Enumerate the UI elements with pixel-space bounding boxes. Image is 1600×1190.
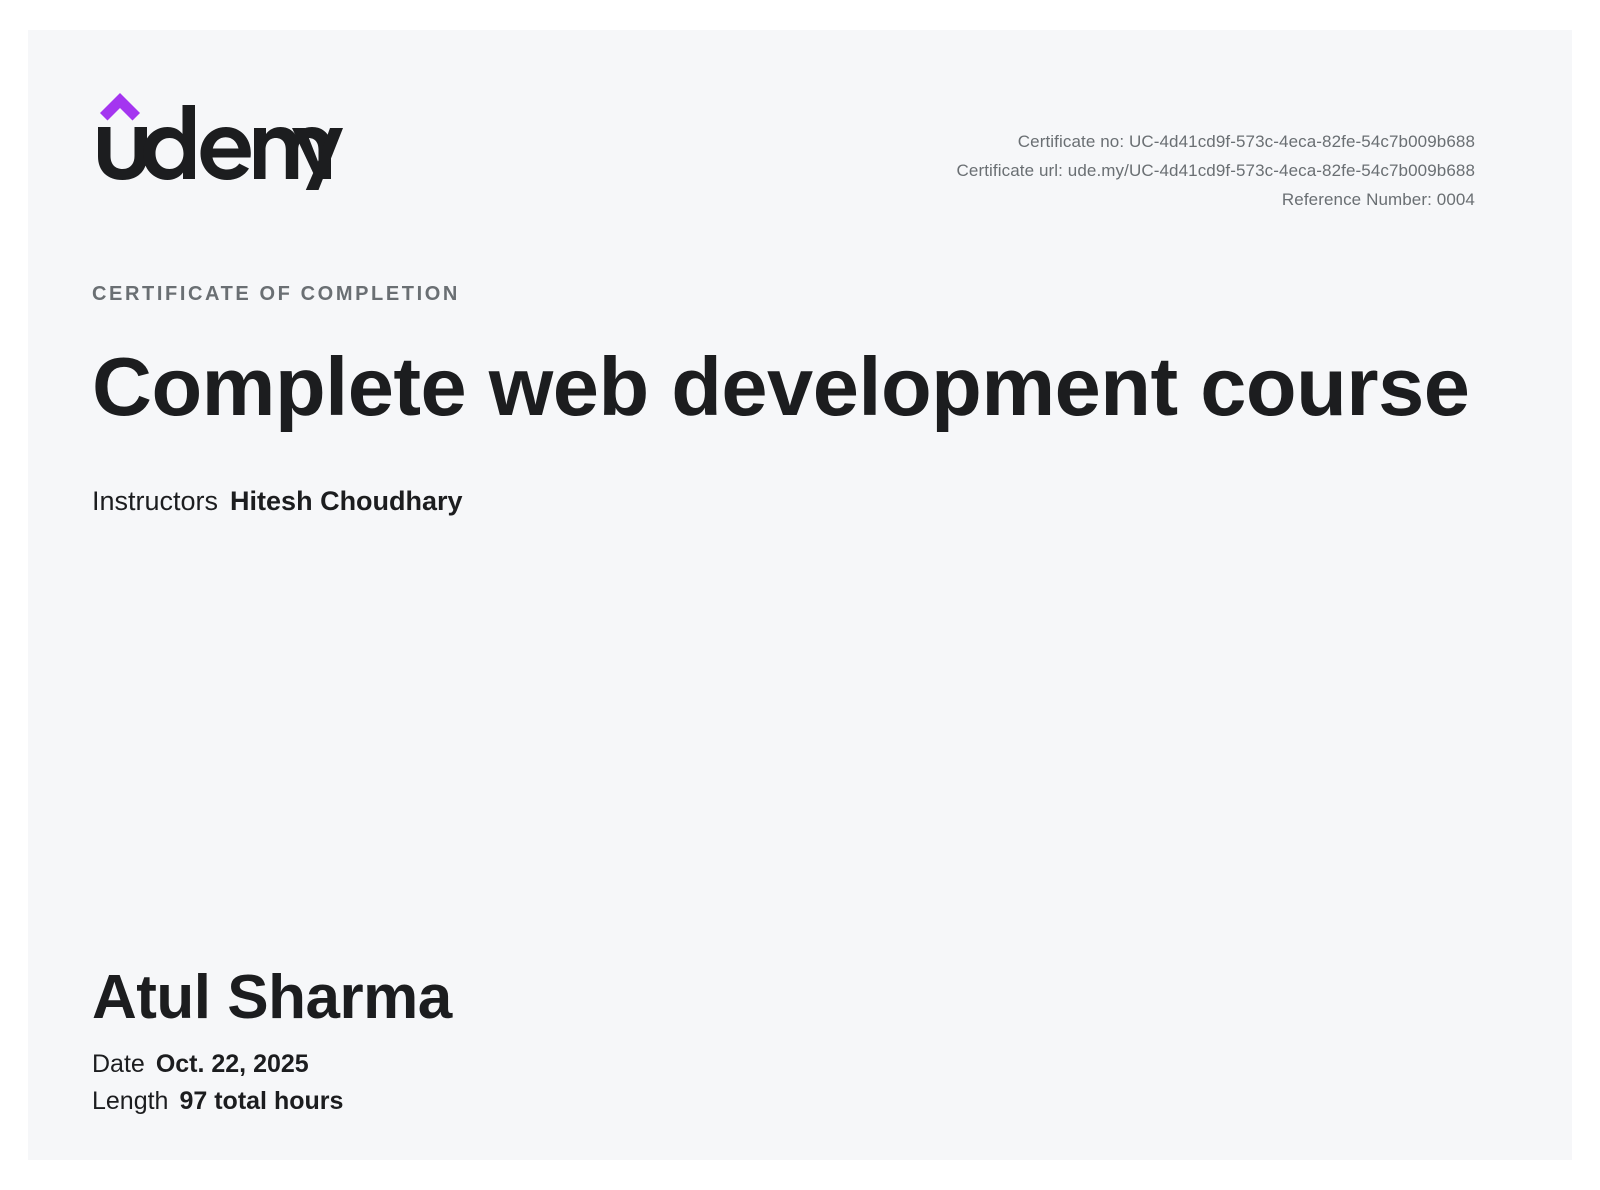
certificate-number: Certificate no: UC-4d41cd9f-573c-4eca-82… [957,127,1475,156]
certificate-page: Certificate no: UC-4d41cd9f-573c-4eca-82… [0,0,1600,1190]
instructors-label: Instructors [92,486,218,516]
reference-number: Reference Number: 0004 [957,185,1475,214]
certificate-body: CERTIFICATE OF COMPLETION Complete web d… [92,280,1508,518]
length-row: Length97 total hours [92,1083,1508,1120]
instructors-row: InstructorsHitesh Choudhary [92,484,1508,518]
instructors-value: Hitesh Choudhary [230,486,463,516]
udemy-logo [92,80,352,190]
recipient-name: Atul Sharma [92,962,1508,1034]
date-row: DateOct. 22, 2025 [92,1046,1508,1083]
certificate-eyebrow: CERTIFICATE OF COMPLETION [92,280,1508,308]
certificate-metadata: Certificate no: UC-4d41cd9f-573c-4eca-82… [957,127,1475,214]
certificate-footer: Atul Sharma DateOct. 22, 2025 Length97 t… [92,962,1508,1120]
certificate-panel: Certificate no: UC-4d41cd9f-573c-4eca-82… [28,30,1572,1160]
date-value: Oct. 22, 2025 [156,1050,309,1078]
length-label: Length [92,1087,168,1115]
certificate-header: Certificate no: UC-4d41cd9f-573c-4eca-82… [92,80,1475,190]
course-title: Complete web development course [92,332,1482,442]
date-label: Date [92,1050,145,1078]
length-value: 97 total hours [179,1087,343,1115]
certificate-url: Certificate url: ude.my/UC-4d41cd9f-573c… [957,156,1475,185]
udemy-logo-icon [92,80,352,190]
